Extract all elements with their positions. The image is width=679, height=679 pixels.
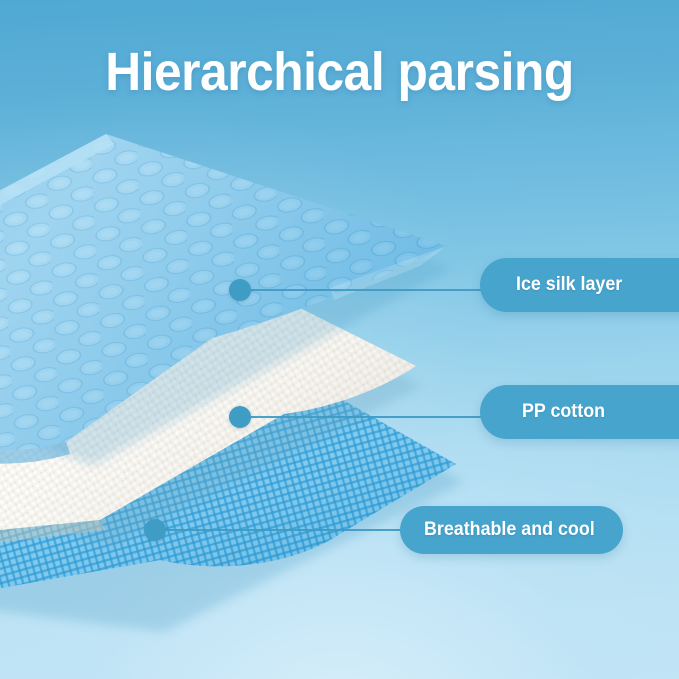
label-pill-ice-silk-layer[interactable]: Ice silk layer	[480, 258, 679, 312]
connector-line-breathable	[155, 529, 411, 531]
label-pill-breathable-and-cool[interactable]: Breathable and cool	[400, 506, 623, 554]
connector-dot-pp-cotton	[229, 406, 251, 428]
connector-dot-ice-silk	[229, 279, 251, 301]
connector-line-pp-cotton	[240, 416, 488, 418]
page-title: Hierarchical parsing	[27, 40, 652, 104]
connector-dot-breathable	[144, 519, 166, 541]
label-pill-pp-cotton[interactable]: PP cotton	[480, 385, 679, 439]
connector-line-ice-silk	[240, 289, 488, 291]
product-layer-diagram: Hierarchical parsing	[0, 0, 679, 679]
label-text-pp-cotton: PP cotton	[522, 401, 605, 423]
label-text-ice-silk-layer: Ice silk layer	[516, 274, 622, 296]
label-text-breathable-and-cool: Breathable and cool	[424, 519, 595, 541]
